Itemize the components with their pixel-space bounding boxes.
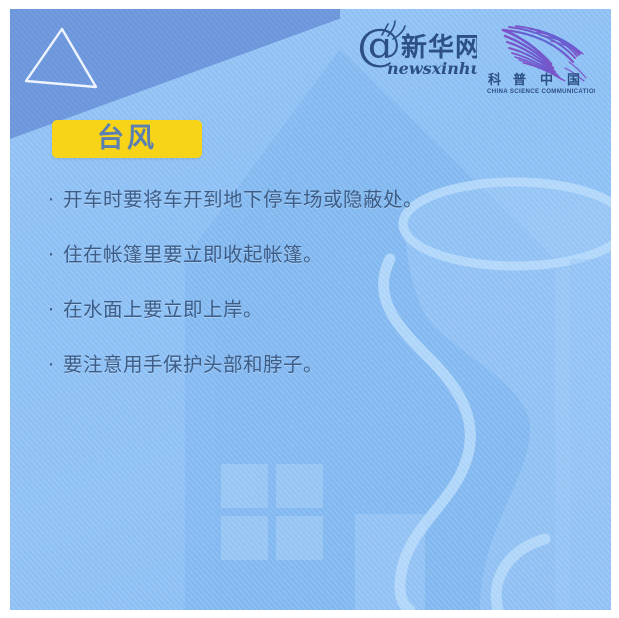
tips-list: · 开车时要将车开到地下停车场或隐蔽处。 · 住在帐篷里要立即收起帐篷。 · 在… <box>48 187 568 407</box>
tip-text: 住在帐篷里要立即收起帐篷。 <box>63 242 568 268</box>
triangle-outline-icon <box>22 23 100 93</box>
kepu-char-2: 普 <box>513 72 526 88</box>
tip-text: 要注意用手保护头部和脖子。 <box>63 352 568 378</box>
kepu-chinese-chars: 科 普 中 国 <box>488 72 580 88</box>
list-item: · 住在帐篷里要立即收起帐篷。 <box>48 242 568 297</box>
tip-text: 在水面上要立即上岸。 <box>63 297 568 323</box>
bullet-dot-icon: · <box>48 187 63 213</box>
title-badge: 台风 <box>52 120 202 158</box>
list-item: · 开车时要将车开到地下停车场或隐蔽处。 <box>48 187 568 242</box>
kepu-char-3: 中 <box>540 72 553 88</box>
page-title: 台风 <box>97 125 157 154</box>
bullet-dot-icon: · <box>48 352 63 378</box>
list-item: · 在水面上要立即上岸。 <box>48 297 568 352</box>
kepu-char-1: 科 <box>488 72 501 88</box>
xinhua-latin-name: newsxinhua <box>387 59 477 78</box>
kepu-char-4: 国 <box>567 73 580 88</box>
bullet-dot-icon: · <box>48 242 63 268</box>
kepu-english-name: CHINA SCIENCE COMMUNICATION <box>487 88 595 94</box>
poster-canvas: @ 新华网 newsxinhua <box>10 9 611 610</box>
bullet-dot-icon: · <box>48 297 63 323</box>
list-item: · 要注意用手保护头部和脖子。 <box>48 352 568 407</box>
tip-text: 开车时要将车开到地下停车场或隐蔽处。 <box>63 187 568 213</box>
poster-root: @ 新华网 newsxinhua <box>0 0 619 618</box>
logo-row: @ 新华网 newsxinhua <box>355 18 595 94</box>
kepu-china-logo: 科 普 中 国 CHINA SCIENCE COMMUNICATION <box>485 18 595 94</box>
xinhua-logo: @ 新华网 newsxinhua <box>355 18 477 80</box>
